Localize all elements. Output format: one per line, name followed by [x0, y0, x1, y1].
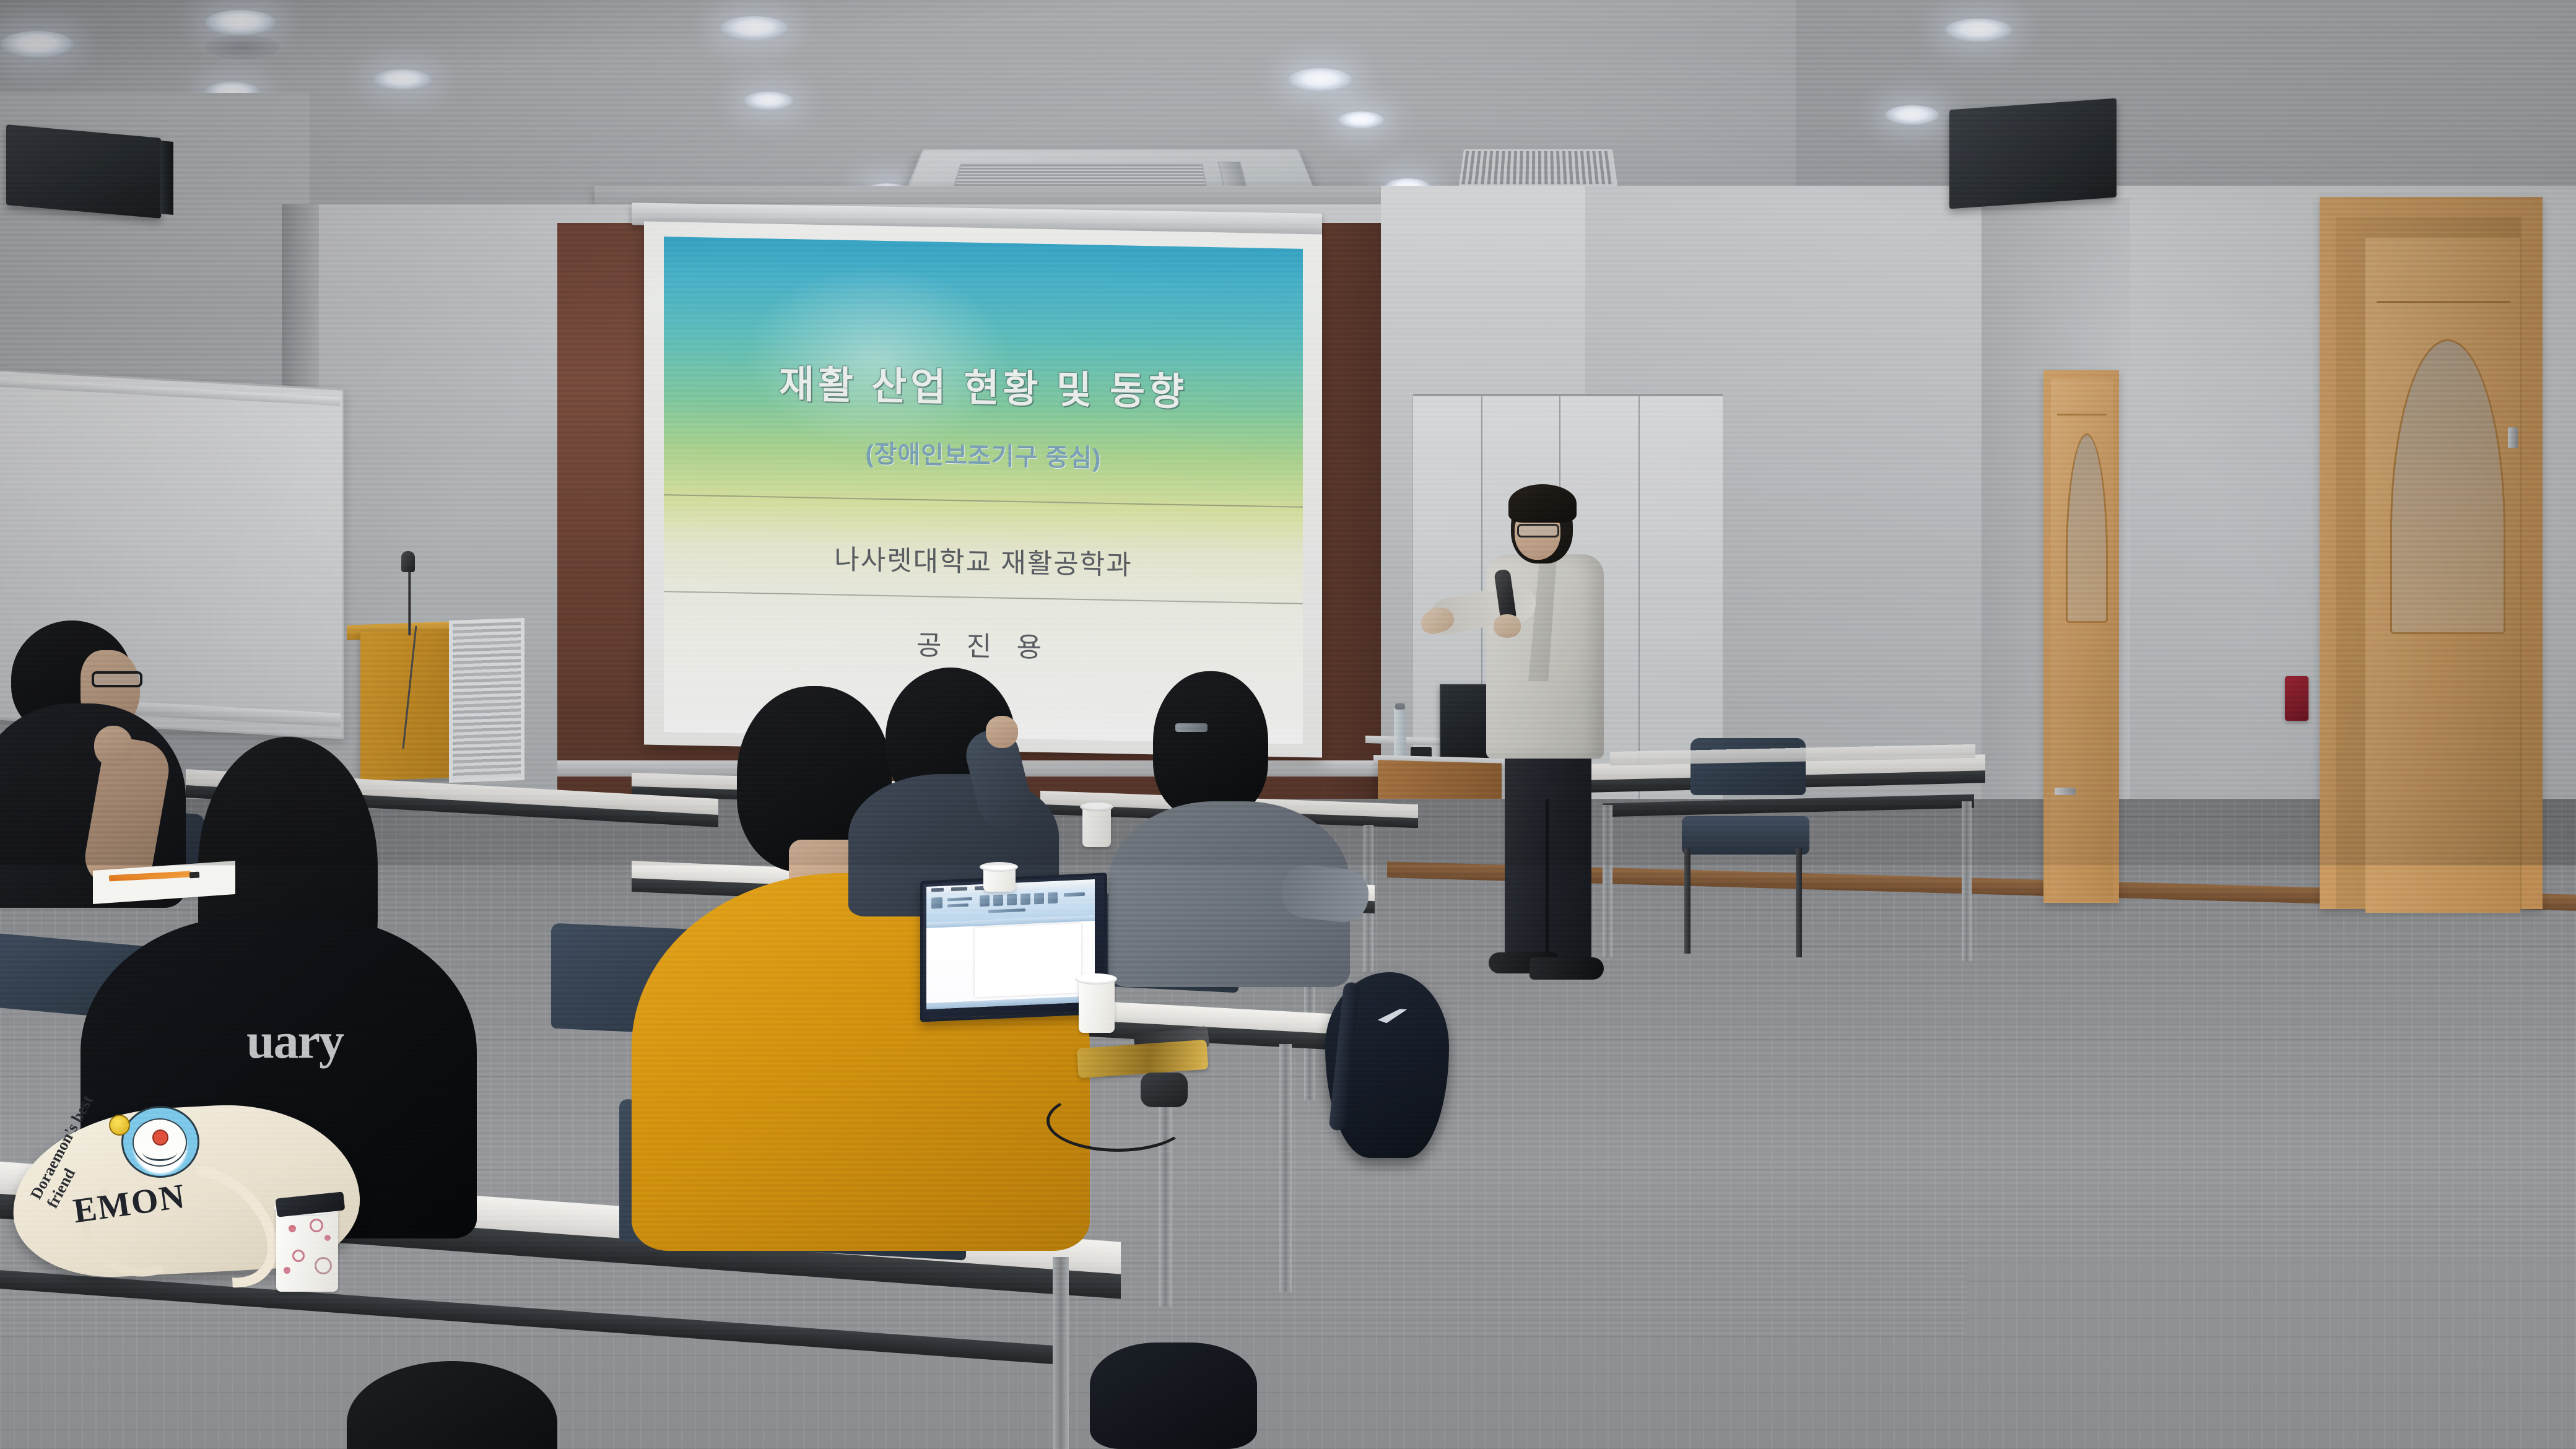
- cup-dot: [292, 1250, 305, 1262]
- doraemon-nose: [152, 1129, 168, 1146]
- chair-leg: [1684, 848, 1690, 954]
- cup-dot: [315, 1257, 332, 1274]
- doraemon-mouth: [142, 1143, 177, 1161]
- slide-organization: 나사렛대학교 재활공학과: [664, 534, 1303, 586]
- paper-cup-dotted: [276, 1205, 338, 1292]
- cup-dot: [310, 1219, 323, 1232]
- toolbar-icon: [931, 897, 942, 909]
- slide-presenter-name: 공 진 용: [664, 618, 1303, 670]
- toolbar-icon: [1048, 892, 1058, 904]
- power-cable: [1046, 1090, 1189, 1152]
- bag-under-desk: [1090, 1342, 1257, 1449]
- glasses-icon: [92, 671, 142, 687]
- paper-cup: [1082, 806, 1111, 847]
- doraemon-bell-icon: [109, 1115, 130, 1136]
- water-bottle: [1394, 707, 1406, 758]
- cup-dot: [324, 1235, 331, 1241]
- paper-cup: [1079, 978, 1115, 1033]
- lecture-room-photograph: 재활 산업 현황 및 동향 (장애인보조기구 중심) 나사렛대학교 재활공학과 …: [0, 0, 2576, 1449]
- ceiling-downlight: [1885, 105, 1939, 125]
- ceiling-right-drop: [1796, 0, 2576, 204]
- presenter-shoe: [1529, 957, 1604, 980]
- slide-divider-rule: [664, 591, 1303, 604]
- wall-speaker-left: [6, 124, 161, 219]
- cup-dot: [289, 1225, 296, 1232]
- menu-word: [951, 887, 967, 891]
- toolbar-icon: [1064, 892, 1085, 897]
- wall-speaker-right: [1949, 98, 2117, 209]
- ceiling-downlight-ring: [206, 35, 280, 59]
- chair-backrest[interactable]: [1690, 738, 1806, 795]
- water-bottle-cap: [1395, 703, 1405, 710]
- wall-speaker-left-side: [160, 141, 173, 215]
- paper-cup-rim: [1075, 973, 1117, 985]
- presenter-leg-split: [1546, 799, 1549, 972]
- ceiling-downlight: [204, 10, 276, 36]
- toolbar-icon: [1034, 893, 1044, 905]
- hair-clip-icon: [1175, 723, 1207, 732]
- door-panel-line: [2377, 301, 2510, 303]
- slide-divider-rule: [664, 494, 1303, 508]
- chair-seat[interactable]: [1682, 816, 1809, 855]
- toolbar-icon: [993, 895, 1003, 907]
- microphone-icon: [401, 551, 415, 572]
- ceiling-downlight: [1944, 19, 2012, 42]
- door-hinge-near: [2508, 427, 2518, 448]
- ceiling-air-vent: [1459, 149, 1618, 186]
- table-leg: [1053, 1257, 1069, 1449]
- ceiling-downlight: [1338, 111, 1385, 129]
- cup-dot: [284, 1267, 290, 1274]
- glasses-icon: [1517, 524, 1559, 537]
- toolbar-icon: [947, 903, 968, 907]
- presenter-hand-holding-mic: [1494, 614, 1521, 638]
- ceiling-downlight: [373, 69, 432, 90]
- toolbar-icon: [1007, 894, 1017, 906]
- pencil-tip: [189, 872, 200, 879]
- toolbar-icon: [1020, 894, 1030, 905]
- toolbar-icon: [988, 908, 1025, 913]
- projection-screen-surface: 재활 산업 현황 및 동향 (장애인보조기구 중심) 나사렛대학교 재활공학과 …: [664, 237, 1303, 744]
- ceiling-downlight: [0, 31, 74, 58]
- attendee-hand: [94, 726, 133, 767]
- table-leg: [1279, 1044, 1292, 1292]
- attendee-head: [1153, 671, 1268, 817]
- paper-cup-rim: [980, 862, 1018, 872]
- table-leg: [1603, 805, 1612, 957]
- toolbar-icon: [947, 897, 972, 902]
- presenter-hair: [1508, 484, 1577, 523]
- ceiling-downlight: [743, 92, 794, 110]
- ceiling-downlight: [1288, 68, 1352, 92]
- attendee-hand: [986, 716, 1018, 748]
- laptop-screen[interactable]: [926, 879, 1095, 1009]
- table-leg: [1962, 801, 1972, 961]
- chair-leg: [1796, 848, 1802, 957]
- cabinet-top-rail: [1413, 394, 1723, 396]
- ceiling-downlight: [720, 16, 789, 41]
- fire-alarm-call-point[interactable]: [2285, 676, 2308, 721]
- garment-text: uary: [246, 1012, 343, 1070]
- microphone-stand: [408, 562, 411, 635]
- door-panel-line: [2057, 414, 2107, 416]
- menu-word: [931, 888, 944, 892]
- laptop-document-page: [975, 923, 1081, 998]
- door-handle-far[interactable]: [2055, 788, 2076, 795]
- slide-subtitle: (장애인보조기구 중심): [664, 430, 1303, 478]
- wall-vent-louvre: [449, 618, 524, 783]
- wood-wainscot-return: [1322, 223, 1390, 799]
- toolbar-icon: [980, 895, 990, 907]
- paper-cup-rim: [1080, 803, 1113, 811]
